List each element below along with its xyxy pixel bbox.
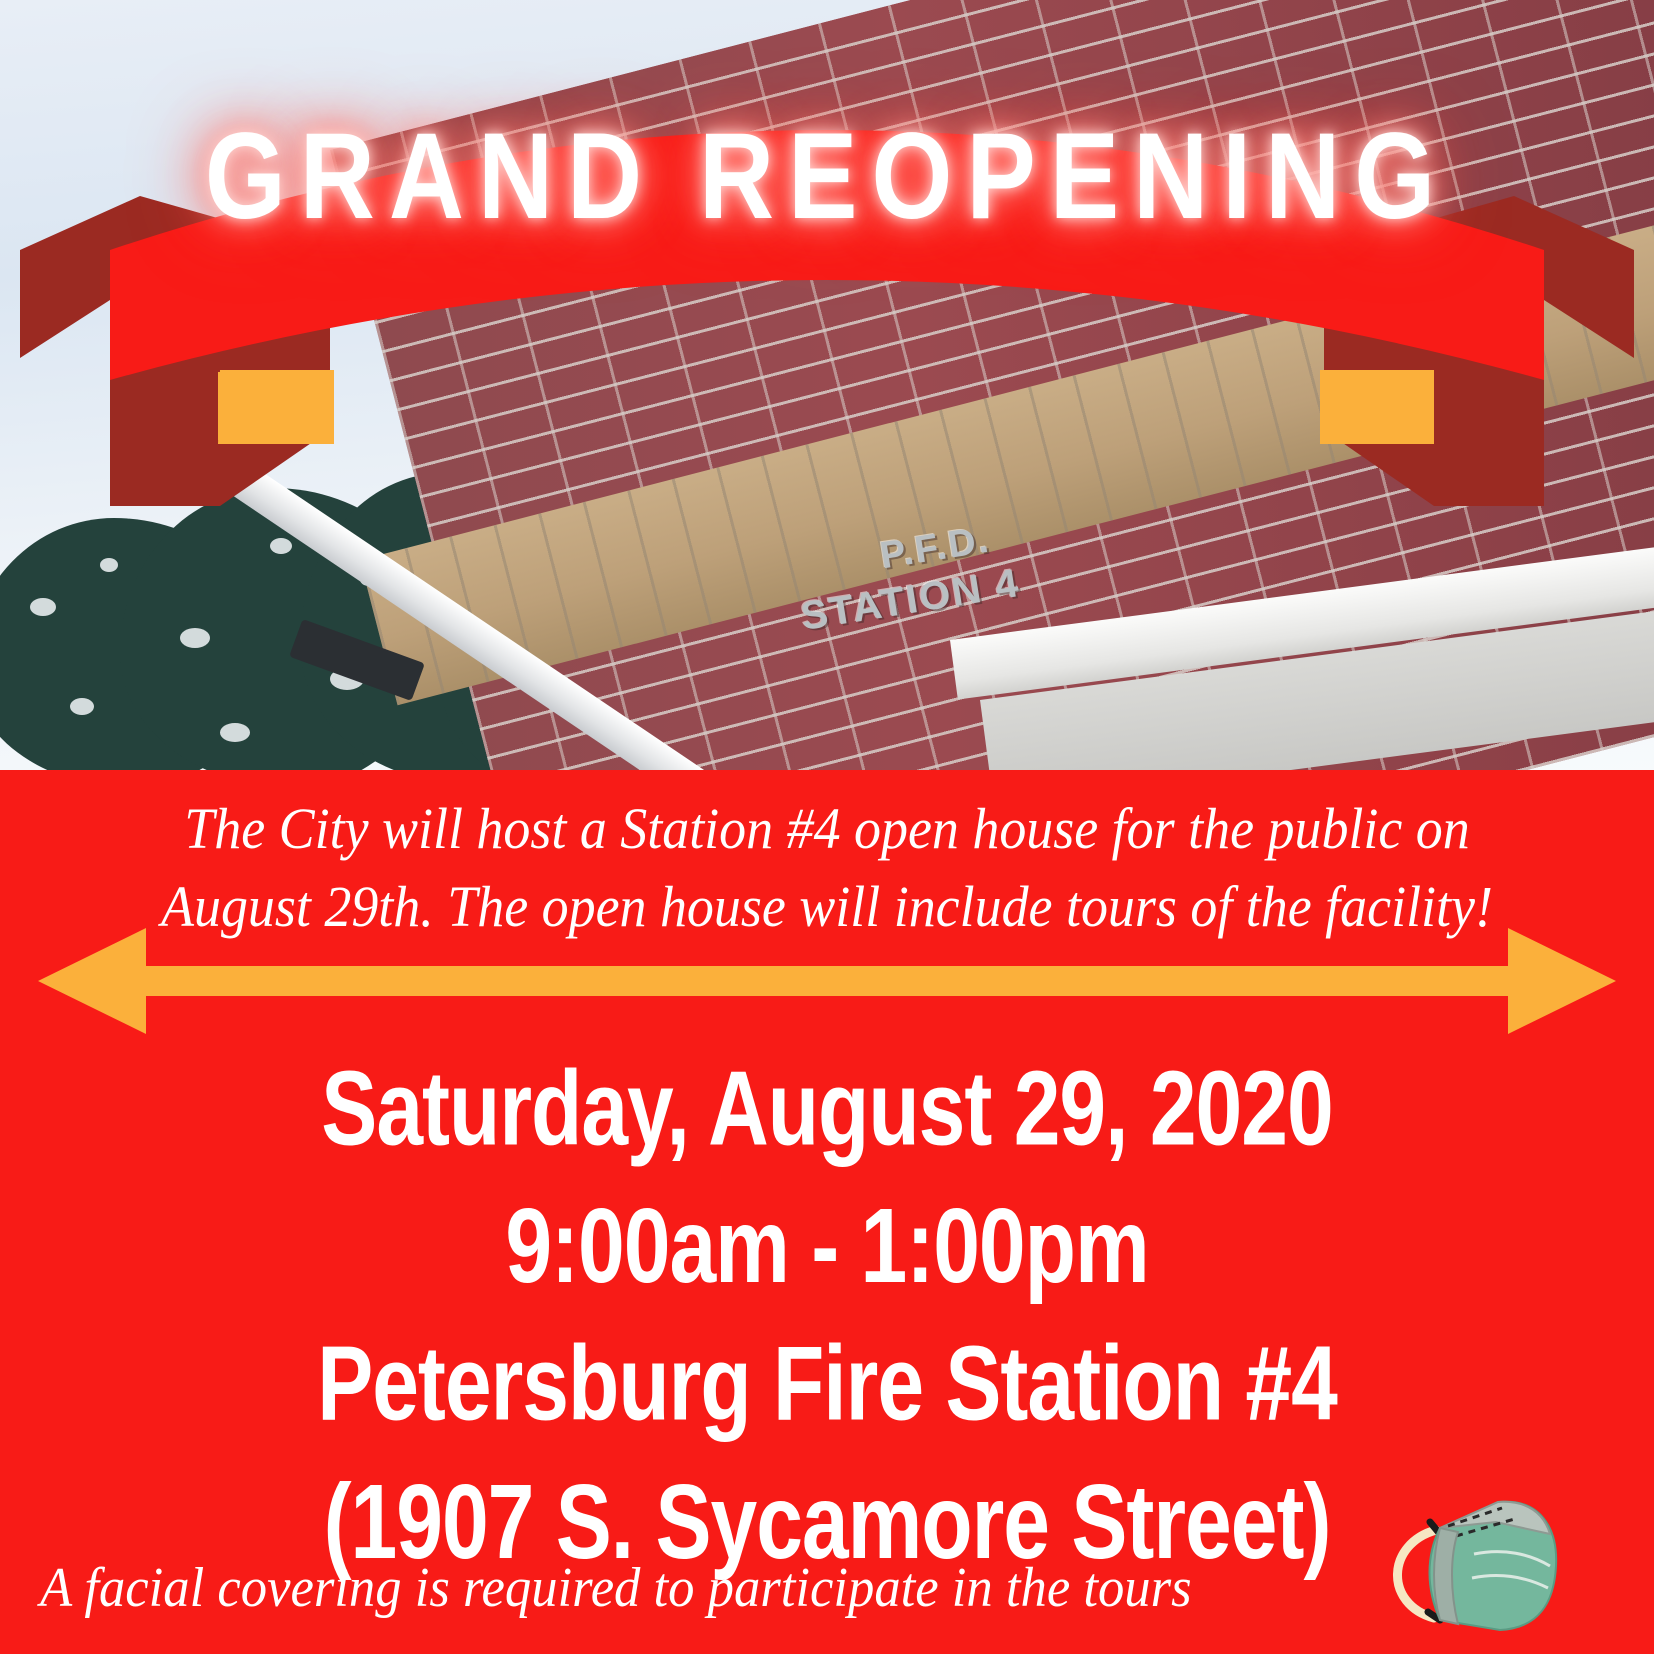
event-venue: Petersburg Fire Station #4 xyxy=(0,1315,1654,1453)
face-mask-icon xyxy=(1378,1492,1568,1642)
double-arrow-icon xyxy=(38,928,1616,1034)
event-time: 9:00am - 1:00pm xyxy=(0,1178,1654,1316)
intro-line-1: The City will host a Station #4 open hou… xyxy=(114,790,1541,868)
banner-title: GRAND REOPENING xyxy=(0,107,1654,247)
event-date: Saturday, August 29, 2020 xyxy=(0,1040,1654,1178)
poster-canvas: P.F.D. STATION 4 GRAND REOPENING The Cit… xyxy=(0,0,1654,1654)
intro-paragraph: The City will host a Station #4 open hou… xyxy=(114,790,1541,945)
mask-requirement-note: A facial covering is required to partici… xyxy=(40,1556,1337,1620)
